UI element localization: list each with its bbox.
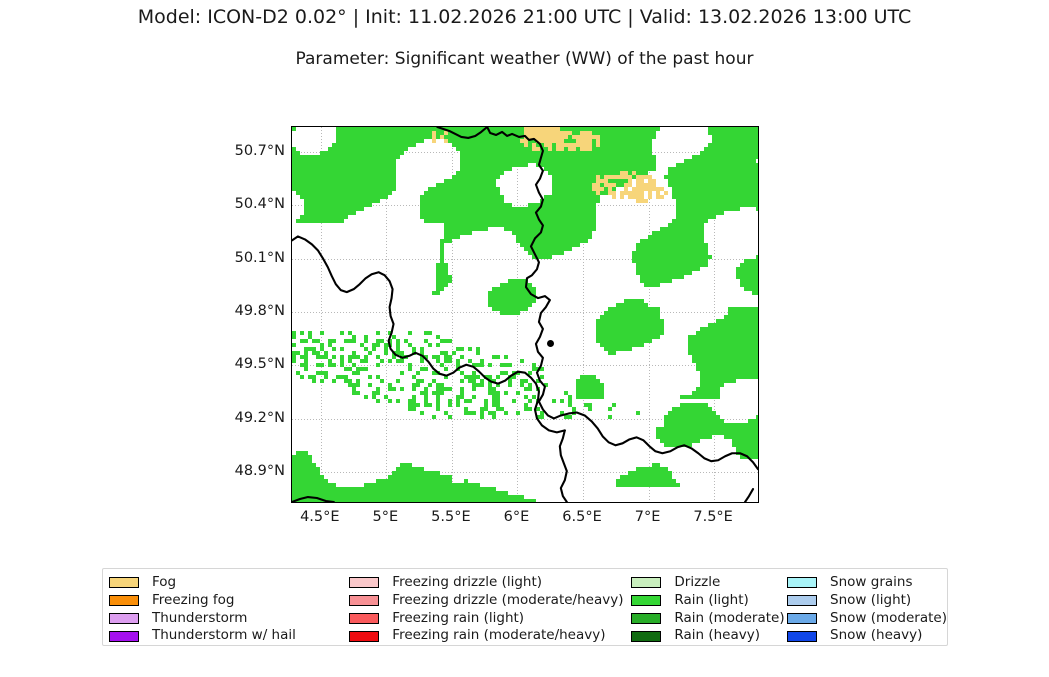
legend-item[interactable]: Rain (light) — [631, 592, 787, 610]
latitude-tick-label: 49.5°N — [235, 357, 285, 372]
legend-color-swatch — [787, 613, 817, 624]
legend-color-swatch — [787, 595, 817, 606]
legend-item-label: Rain (moderate) — [674, 612, 784, 626]
legend-color-swatch — [349, 631, 379, 642]
legend-item-label: Snow (light) — [830, 594, 911, 608]
legend-item[interactable]: Freezing drizzle (moderate/heavy) — [349, 592, 631, 610]
legend-item[interactable]: Freezing drizzle (light) — [349, 574, 631, 592]
legend-item[interactable]: Rain (heavy) — [631, 627, 787, 645]
legend-item-label: Rain (light) — [674, 594, 748, 608]
legend-item[interactable]: Drizzle — [631, 574, 787, 592]
legend-color-swatch — [109, 631, 139, 642]
latitude-tick-label: 50.4°N — [235, 197, 285, 212]
legend-item[interactable]: Snow (heavy) — [787, 627, 947, 645]
legend-color-swatch — [349, 613, 379, 624]
legend-item[interactable]: Freezing rain (light) — [349, 610, 631, 628]
legend-column-2: DrizzleRain (light)Rain (moderate)Rain (… — [631, 574, 787, 645]
longitude-tick-label: 7°E — [635, 510, 661, 525]
latitude-tick-label: 48.9°N — [235, 464, 285, 479]
legend-item-label: Snow grains — [830, 576, 912, 590]
legend-item-label: Fog — [152, 576, 176, 590]
longitude-tick-label: 6°E — [504, 510, 530, 525]
latitude-tick-label: 50.1°N — [235, 251, 285, 266]
legend-color-swatch — [787, 631, 817, 642]
legend-item[interactable]: Snow (moderate) — [787, 610, 947, 628]
city-markers — [292, 127, 758, 502]
longitude-tick-label: 4.5°E — [300, 510, 339, 525]
legend-color-swatch — [109, 577, 139, 588]
latitude-tick-label: 49.8°N — [235, 304, 285, 319]
legend-column-0: FogFreezing fogThunderstormThunderstorm … — [109, 574, 349, 645]
legend-color-swatch — [631, 577, 661, 588]
longitude-tick-label: 7.5°E — [693, 510, 732, 525]
legend-color-swatch — [349, 595, 379, 606]
legend-column-3: Snow grainsSnow (light)Snow (moderate)Sn… — [787, 574, 947, 645]
legend-item-label: Snow (heavy) — [830, 629, 922, 643]
legend-item[interactable]: Thunderstorm w/ hail — [109, 627, 349, 645]
legend-color-swatch — [631, 613, 661, 624]
legend-color-swatch — [787, 577, 817, 588]
legend-color-swatch — [631, 631, 661, 642]
latitude-tick-label: 50.7°N — [235, 144, 285, 159]
legend-color-swatch — [631, 595, 661, 606]
legend-columns: FogFreezing fogThunderstormThunderstorm … — [103, 574, 947, 645]
legend-column-1: Freezing drizzle (light)Freezing drizzle… — [349, 574, 631, 645]
legend-color-swatch — [109, 613, 139, 624]
page-title: Model: ICON-D2 0.02° | Init: 11.02.2026 … — [0, 8, 1049, 27]
legend-item-label: Rain (heavy) — [674, 629, 760, 643]
legend-item[interactable]: Snow grains — [787, 574, 947, 592]
legend-item-label: Drizzle — [674, 576, 720, 590]
legend-item[interactable]: Thunderstorm — [109, 610, 349, 628]
legend-item-label: Freezing drizzle (moderate/heavy) — [392, 594, 623, 608]
latitude-tick-label: 49.2°N — [235, 411, 285, 426]
weather-legend: FogFreezing fogThunderstormThunderstorm … — [102, 568, 948, 646]
chart-titles: Model: ICON-D2 0.02° | Init: 11.02.2026 … — [0, 0, 1049, 68]
legend-item-label: Freezing fog — [152, 594, 234, 608]
legend-item[interactable]: Snow (light) — [787, 592, 947, 610]
page-subtitle: Parameter: Significant weather (WW) of t… — [0, 51, 1049, 68]
legend-item-label: Snow (moderate) — [830, 612, 947, 626]
longitude-tick-label: 5°E — [373, 510, 399, 525]
legend-item[interactable]: Fog — [109, 574, 349, 592]
legend-item-label: Freezing drizzle (light) — [392, 576, 542, 590]
legend-item-label: Freezing rain (light) — [392, 612, 524, 626]
longitude-tick-label: 5.5°E — [431, 510, 470, 525]
weather-map-figure: 50.7°N50.4°N50.1°N49.8°N49.5°N49.2°N48.9… — [291, 126, 759, 503]
legend-color-swatch — [349, 577, 379, 588]
legend-item[interactable]: Freezing fog — [109, 592, 349, 610]
legend-color-swatch — [109, 595, 139, 606]
legend-item[interactable]: Rain (moderate) — [631, 610, 787, 628]
map-plot-area[interactable] — [291, 126, 759, 503]
legend-item[interactable]: Freezing rain (moderate/heavy) — [349, 627, 631, 645]
legend-item-label: Thunderstorm w/ hail — [152, 629, 296, 643]
legend-item-label: Thunderstorm — [152, 612, 247, 626]
legend-item-label: Freezing rain (moderate/heavy) — [392, 629, 605, 643]
longitude-tick-label: 6.5°E — [562, 510, 601, 525]
city-dot-marker — [547, 340, 554, 347]
